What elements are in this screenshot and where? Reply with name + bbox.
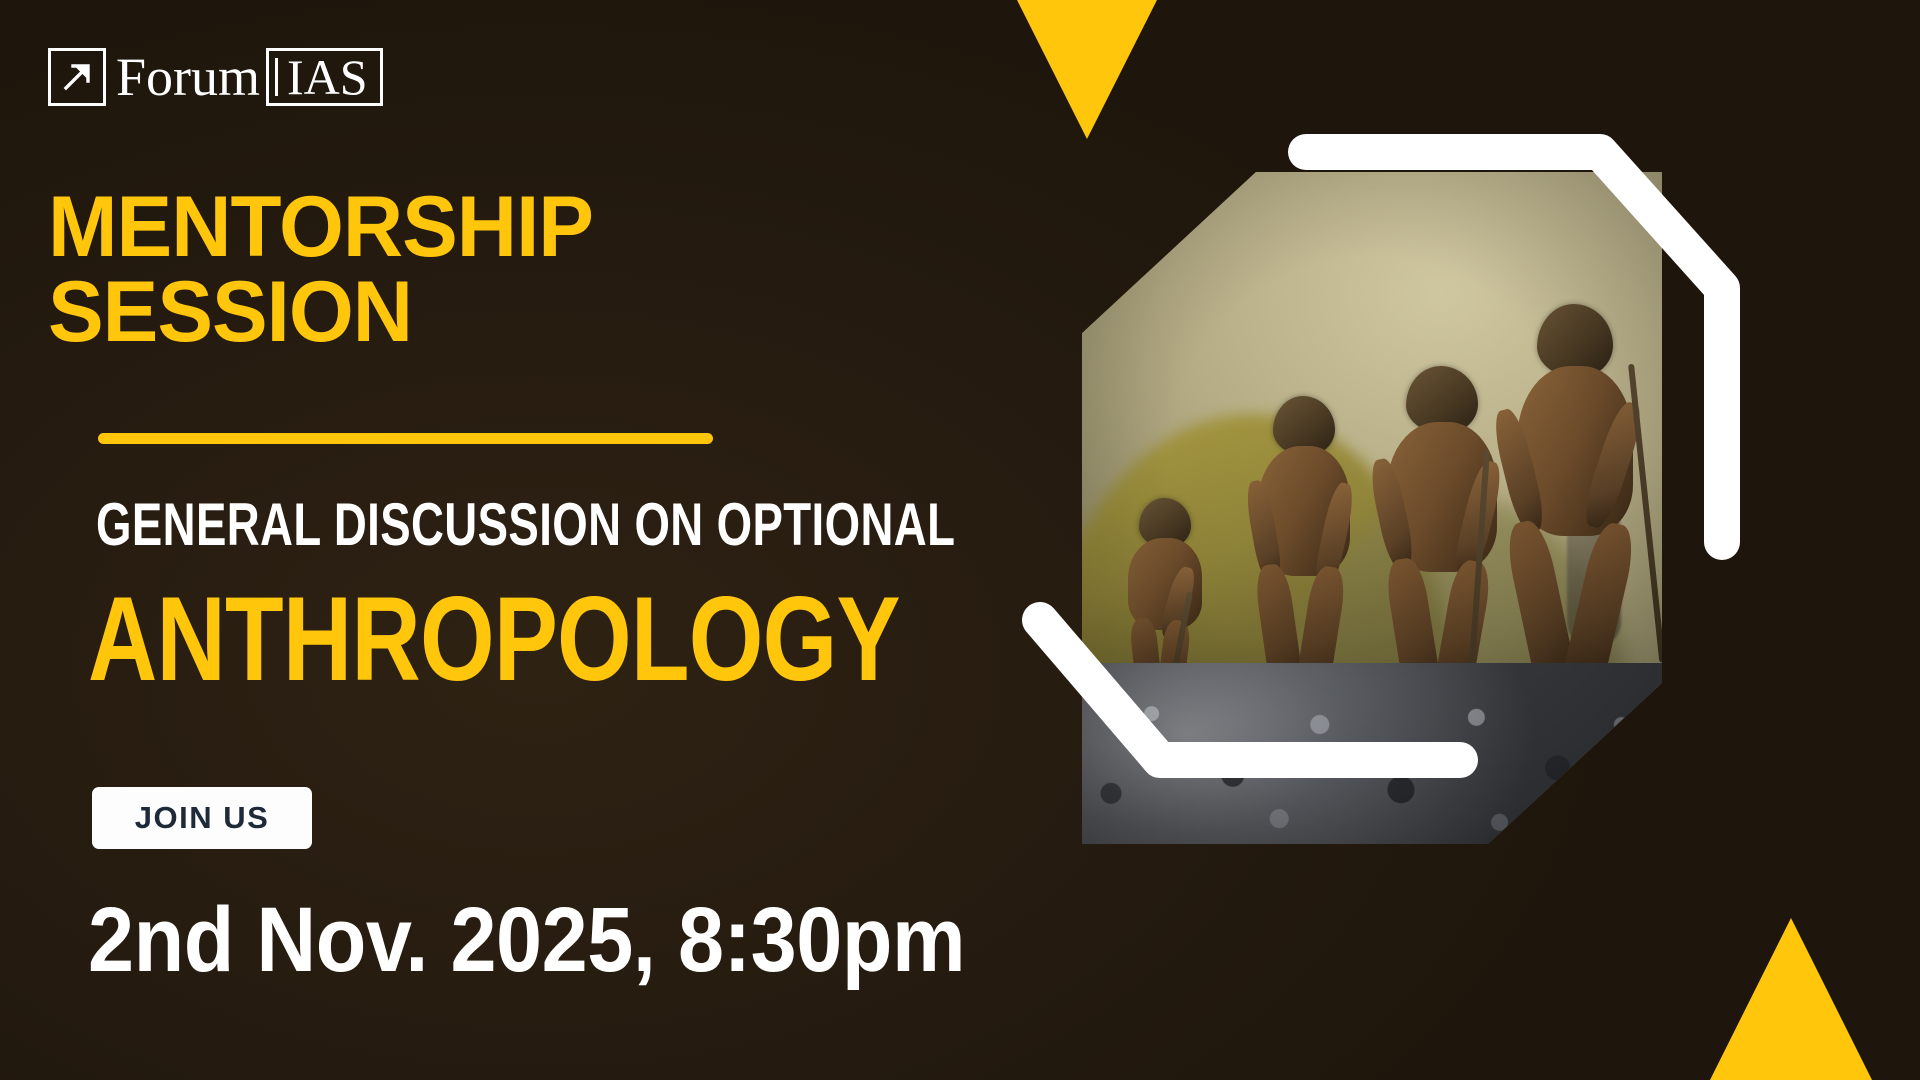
promo-banner: Forum IAS MENTORSHIP SESSION GENERAL DIS… [0,0,1920,1080]
headline-line-1: MENTORSHIP [48,185,593,270]
topic-title: ANTHROPOLOGY [88,570,900,708]
forumias-logo[interactable]: Forum IAS [48,48,383,106]
event-datetime: 2nd Nov. 2025, 8:30pm [88,888,965,993]
join-us-button[interactable]: JOIN US [92,787,312,849]
logo-wordmark: Forum [106,48,266,106]
content-column: Forum IAS MENTORSHIP SESSION GENERAL DIS… [48,0,1048,1080]
logo-ias-text: IAS [287,51,368,103]
logo-divider-bar [275,58,278,96]
hex-stroke-bottom-left [1040,620,1460,760]
subtitle: GENERAL DISCUSSION ON OPTIONAL [96,490,955,559]
logo-ias-badge: IAS [266,48,383,106]
hex-stroke-top-right [1306,152,1722,542]
hexagon-frame [1020,110,1760,930]
triangle-up-icon [1706,918,1876,1080]
arrow-up-right-icon [48,48,106,106]
hexagon-frame-svg [1020,110,1760,930]
headline-line-2: SESSION [48,270,593,355]
page-title: MENTORSHIP SESSION [48,185,593,355]
hexagon-graphic [1020,110,1760,930]
divider-bar [98,433,713,444]
join-us-label: JOIN US [135,800,270,836]
